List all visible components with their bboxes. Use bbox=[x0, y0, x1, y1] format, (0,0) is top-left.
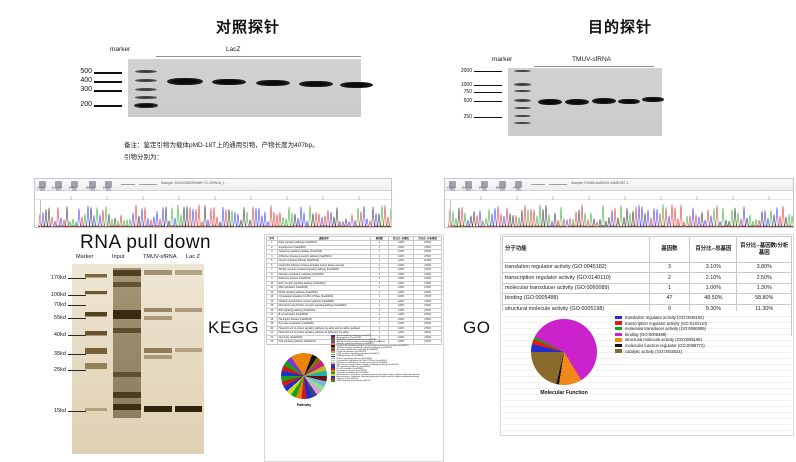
chromatogram-trace-left bbox=[35, 200, 391, 227]
ladder-line-200 bbox=[94, 105, 122, 107]
marker-band bbox=[514, 83, 531, 86]
legend-label: structural molecule activity (GO:0005198… bbox=[625, 337, 702, 342]
go-cell-pct-analyzed: 3.80% bbox=[737, 263, 792, 273]
chromatogram-ruler-left bbox=[35, 191, 391, 200]
trace-curves-right bbox=[445, 200, 793, 227]
sample-band bbox=[538, 99, 562, 105]
go-table-row: translation regulator activity (GO:00451… bbox=[503, 263, 792, 273]
ladder-label-250: 250 bbox=[450, 114, 472, 120]
rna-pulldown-panel: RNA pull down Marker Input TMUV-sfRNA La… bbox=[58, 232, 238, 460]
sample-band bbox=[592, 98, 616, 104]
mw-label-35: 35kd bbox=[44, 351, 66, 357]
go-cell-genes: 1 bbox=[649, 283, 690, 293]
go-legend-item: catalytic activity (GO:0003824) bbox=[615, 349, 791, 354]
export-label[interactable]: Export bbox=[462, 186, 472, 190]
go-cell-name: transcription regulator activity (GO:014… bbox=[503, 273, 650, 283]
go-section-label: GO bbox=[463, 318, 490, 338]
marker-band bbox=[135, 96, 157, 99]
legend-color-swatch bbox=[615, 333, 622, 337]
mw-label-55: 55kd bbox=[44, 315, 66, 321]
legend-color-swatch bbox=[331, 380, 335, 382]
go-legend-item: binding (GO:0005488) bbox=[615, 332, 791, 337]
target-probe-panel: 目的探针 marker TMUV-sfRNA 2000 1000 750 500… bbox=[470, 8, 770, 158]
chromatogram-trace-right bbox=[445, 200, 793, 227]
kegg-table: 序号 通路名称 基因数 百分比--总基因 百分比--分析基因 1Rap1 sig… bbox=[266, 236, 442, 345]
go-col-function: 分子功能 bbox=[503, 237, 650, 263]
legend-label: molecular transducer activity (GO:006008… bbox=[625, 326, 706, 331]
mw-label-15: 15kd bbox=[44, 408, 66, 414]
go-table-header-row: 分子功能 基因数 百分比--总基因 百分比--基因数/分析基因 bbox=[503, 237, 792, 263]
ladder-label-2000: 2000 bbox=[450, 68, 472, 74]
sample-band bbox=[565, 99, 589, 105]
primer-note-line-1: 备注：鉴定引物为载体pMD-18T上的通用引物，产物长度为407bp。 bbox=[124, 140, 524, 152]
go-cell-pct-total: 2.10% bbox=[690, 273, 737, 283]
go-cell-genes: 3 bbox=[649, 263, 690, 273]
legend-color-swatch bbox=[615, 344, 622, 348]
chromatogram-viewer-right[interactable]: Open Export Print Reset Find Sample: RGM… bbox=[444, 178, 794, 228]
primer-note-line-2: 引物分别为： bbox=[124, 152, 524, 164]
target-gel: marker TMUV-sfRNA 2000 1000 750 500 250 bbox=[470, 56, 770, 141]
reset-label[interactable]: Reset bbox=[86, 186, 95, 190]
marker-band bbox=[135, 88, 157, 91]
go-panel: 分子功能 基因数 百分比--总基因 百分比--基因数/分析基因 translat… bbox=[500, 234, 794, 436]
go-cell-pct-analyzed: 58.80% bbox=[737, 294, 792, 304]
go-legend-item: molecular transducer activity (GO:006008… bbox=[615, 326, 791, 331]
toolbar-divider bbox=[139, 184, 157, 185]
mw-line-170 bbox=[68, 278, 86, 279]
open-label[interactable]: Open bbox=[37, 186, 45, 190]
control-probe-panel: 对照探针 marker LacZ 500 400 300 200 bbox=[88, 8, 408, 158]
control-gel: marker LacZ 500 400 300 200 bbox=[88, 46, 408, 126]
find-label[interactable]: Find bbox=[103, 186, 110, 190]
mw-line-70 bbox=[68, 305, 86, 306]
ladder-label-500: 500 bbox=[450, 98, 472, 104]
ladder-line-300 bbox=[94, 90, 122, 92]
control-marker-label: marker bbox=[110, 46, 130, 53]
legend-color-swatch bbox=[615, 349, 622, 353]
ladder-label-200: 200 bbox=[70, 101, 92, 108]
mw-label-25: 25kd bbox=[44, 367, 66, 373]
go-table-row: transcription regulator activity (GO:014… bbox=[503, 273, 792, 283]
trace-y-axis bbox=[35, 200, 41, 227]
go-legend-item: molecular function regulator (GO:0098772… bbox=[615, 343, 791, 348]
ladder-line-250 bbox=[474, 117, 502, 118]
kegg-table-body: 1Rap1 signaling pathway (hsa04015)11.00%… bbox=[267, 241, 442, 344]
ladder-line-750 bbox=[474, 92, 502, 93]
go-legend-item: structural molecule activity (GO:0005198… bbox=[615, 337, 791, 342]
rna-pulldown-title: RNA pull down bbox=[80, 232, 211, 254]
ladder-line-1000 bbox=[474, 85, 502, 86]
toolbar-divider bbox=[121, 184, 135, 185]
go-table-row: binding (GO:0005488)4748.50%58.80% bbox=[503, 294, 792, 304]
go-legend-item: translation regulator activity (GO:00451… bbox=[615, 315, 791, 320]
kegg-panel: 序号 通路名称 基因数 百分比--总基因 百分比--分析基因 1Rap1 sig… bbox=[264, 234, 444, 462]
pulldown-lane-input: Input bbox=[112, 254, 124, 260]
ladder-line-500 bbox=[474, 101, 502, 102]
legend-label: transcription regulator activity (GO:014… bbox=[625, 321, 707, 326]
go-table-row: molecular transducer activity (GO:006008… bbox=[503, 283, 792, 293]
kegg-section-label: KEGG bbox=[208, 318, 259, 338]
go-col-pct-total: 百分比--总基因 bbox=[690, 237, 737, 263]
sample-band bbox=[212, 79, 246, 85]
mw-line-100 bbox=[68, 295, 86, 296]
pulldown-lane-lacz: Lac Z bbox=[186, 254, 200, 260]
target-lane-underline bbox=[534, 66, 654, 67]
go-cell-name: molecular transducer activity (GO:006008… bbox=[503, 283, 650, 293]
trace-curves-left bbox=[35, 200, 391, 227]
go-cell-pct-total: 3.10% bbox=[690, 263, 737, 273]
export-label[interactable]: Export bbox=[52, 186, 62, 190]
pulldown-gel-image bbox=[72, 264, 204, 454]
go-col-genes: 基因数 bbox=[649, 237, 690, 263]
chromatogram-viewer-left[interactable]: Open Export Print Reset Find Sample: 202… bbox=[34, 178, 392, 228]
go-cell-pct-total: 1.00% bbox=[690, 283, 737, 293]
kegg-pie-chart bbox=[281, 353, 327, 399]
ladder-label-750: 750 bbox=[450, 89, 472, 95]
marker-band bbox=[134, 103, 158, 108]
ladder-line-2000 bbox=[474, 71, 502, 72]
legend-color-swatch bbox=[615, 316, 622, 320]
sample-band bbox=[167, 78, 203, 85]
control-lane-group-label: LacZ bbox=[226, 46, 240, 53]
legend-label: FGF signaling pathway (hsa04011) bbox=[337, 380, 371, 382]
go-pie-caption: Molecular Function bbox=[523, 390, 605, 396]
kegg-cell-no: 23 bbox=[267, 340, 278, 344]
reset-label[interactable]: Reset bbox=[496, 186, 505, 190]
target-marker-label: marker bbox=[492, 56, 512, 63]
go-cell-pct-total: 48.50% bbox=[690, 294, 737, 304]
chromatogram-ruler-right bbox=[445, 191, 793, 200]
kegg-pie-caption: Pathway bbox=[275, 403, 333, 407]
print-label[interactable]: Print bbox=[69, 186, 76, 190]
legend-color-swatch bbox=[615, 327, 622, 331]
target-lane-group-label: TMUV-sfRNA bbox=[572, 56, 611, 63]
sample-band bbox=[299, 81, 333, 87]
control-probe-title: 对照探针 bbox=[98, 16, 398, 37]
sample-band bbox=[256, 80, 290, 86]
legend-color-swatch bbox=[615, 338, 622, 342]
mw-line-25 bbox=[68, 370, 86, 371]
mw-label-70: 70kd bbox=[44, 302, 66, 308]
mw-line-40 bbox=[68, 335, 86, 336]
primer-note: 备注：鉴定引物为载体pMD-18T上的通用引物，产物长度为407bp。 引物分别… bbox=[124, 140, 524, 165]
mw-label-100: 100kd bbox=[44, 292, 66, 298]
find-label[interactable]: Find bbox=[513, 186, 520, 190]
go-cell-name: translation regulator activity (GO:00451… bbox=[503, 263, 650, 273]
go-cell-pct-analyzed: 1.30% bbox=[737, 283, 792, 293]
sample-label-left: Sample: 20211026099046P-TC-GRN-M_L bbox=[161, 181, 225, 185]
ladder-label-300: 300 bbox=[70, 86, 92, 93]
toolbar-divider bbox=[549, 184, 567, 185]
chromatogram-toolbar-left[interactable]: Open Export Print Reset Find Sample: 202… bbox=[35, 179, 391, 191]
mw-line-35 bbox=[68, 354, 86, 355]
target-probe-title: 目的探针 bbox=[490, 16, 750, 37]
ladder-label-400: 400 bbox=[70, 77, 92, 84]
legend-label: binding (GO:0005488) bbox=[625, 332, 666, 337]
legend-label: molecular function regulator (GO:0098772… bbox=[625, 343, 705, 348]
go-cell-pct-analyzed: 2.50% bbox=[737, 273, 792, 283]
mw-label-170: 170kd bbox=[44, 275, 66, 281]
pulldown-lane-sfrna: TMUV-sfRNA bbox=[143, 254, 177, 260]
go-cell-name: binding (GO:0005488) bbox=[503, 294, 650, 304]
pulldown-lane-marker: Marker bbox=[76, 254, 93, 260]
kegg-cell-name: Heterotrimeric G-protein signaling pathw… bbox=[277, 326, 370, 330]
kegg-legend-item: FGF signaling pathway (hsa04011) bbox=[331, 380, 443, 382]
go-cell-genes: 2 bbox=[649, 273, 690, 283]
control-lane-underline bbox=[156, 56, 361, 57]
open-label[interactable]: Open bbox=[447, 186, 455, 190]
trace-y-axis bbox=[445, 200, 451, 227]
control-gel-image bbox=[128, 59, 361, 117]
ladder-line-500 bbox=[94, 72, 122, 74]
sample-label-right: Sample: RGMB-sfsfNGXL14MEG8T-1 bbox=[571, 181, 628, 185]
go-pie-chart bbox=[531, 319, 597, 385]
mw-label-40: 40kd bbox=[44, 332, 66, 338]
toolbar-divider bbox=[531, 184, 545, 185]
go-legend-item: transcription regulator activity (GO:014… bbox=[615, 321, 791, 326]
legend-label: catalytic activity (GO:0003824) bbox=[625, 349, 682, 354]
sample-band bbox=[340, 82, 373, 88]
legend-label: translation regulator activity (GO:00451… bbox=[625, 315, 704, 320]
chromatogram-toolbar-right[interactable]: Open Export Print Reset Find Sample: RGM… bbox=[445, 179, 793, 191]
mw-line-15 bbox=[68, 411, 86, 412]
marker-band bbox=[135, 70, 157, 73]
marker-band bbox=[514, 99, 531, 102]
mw-line-55 bbox=[68, 318, 86, 319]
legend-color-swatch bbox=[615, 321, 622, 325]
go-col-pct-analyzed: 百分比--基因数/分析基因 bbox=[737, 237, 792, 263]
ladder-line-400 bbox=[94, 81, 122, 83]
go-legend: translation regulator activity (GO:00451… bbox=[615, 315, 791, 354]
go-cell-genes: 47 bbox=[649, 294, 690, 304]
kegg-legend: Rap1 signaling pathway (hsa04015)Angioge… bbox=[331, 335, 443, 382]
ladder-label-500: 500 bbox=[70, 68, 92, 75]
print-label[interactable]: Print bbox=[479, 186, 486, 190]
ladder-label-1000: 1000 bbox=[450, 82, 472, 88]
